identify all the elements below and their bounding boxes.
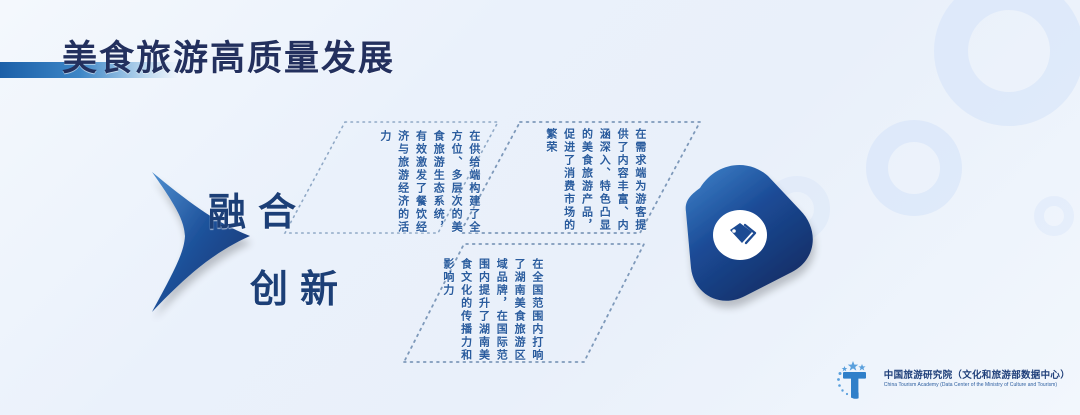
page-title: 美食旅游高质量发展 — [62, 30, 395, 81]
china-tourism-academy-logo-icon — [831, 357, 877, 403]
branch-text-supply: 在供给端构建了全方位、多层次的美食旅游生态系统，有效激发了餐饮经济与旅游经济的活… — [375, 130, 482, 242]
play-triangle-food-tag-icon — [686, 165, 813, 301]
org-name-en: China Tourism Academy (Data Center of th… — [884, 383, 1070, 389]
branch-text-demand: 在需求端为游客提供了内容丰富、内涵深入、特色凸显的美食旅游产品，促进了消费市场的… — [541, 128, 648, 240]
keyword-innovation: 创新 — [250, 258, 350, 313]
branch-text-brand: 在全国范围内打响了湖南美食旅游区域品牌，在国际范围内提升了湖南美食文化的传播力和… — [438, 258, 545, 366]
org-name-cn: 中国旅游研究院（文化和旅游部数据中心） — [884, 371, 1070, 381]
keyword-fusion: 融合 — [208, 181, 308, 236]
footer-logo: 中国旅游研究院（文化和旅游部数据中心） China Tourism Academ… — [831, 357, 1070, 403]
logo-text-block: 中国旅游研究院（文化和旅游部数据中心） China Tourism Academ… — [884, 371, 1070, 389]
